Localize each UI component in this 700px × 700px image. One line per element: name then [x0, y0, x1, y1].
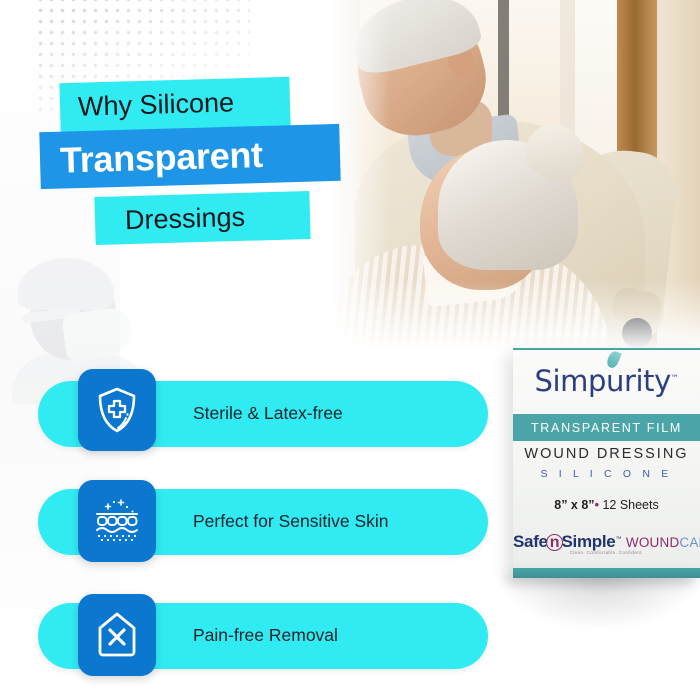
company-tagline: Clean. Comfortable. Confident. [513, 550, 700, 555]
product-band-text: TRANSPARENT FILM [531, 421, 682, 435]
brand-name: Simpurity [534, 364, 670, 398]
company-name-suffix: Simple [562, 532, 616, 551]
product-box: Simpurity™ TRANSPARENT FILM WOUND DRESSI… [513, 348, 700, 572]
headline-banner-line1: Why Silicone [59, 77, 290, 132]
headline-text-line1: Why Silicone [78, 87, 235, 122]
product-count: 12 Sheets [602, 498, 658, 512]
elderly-couple-photo [330, 0, 700, 350]
company-name-prefix: Safe [513, 532, 548, 551]
clinician-face-mask [61, 306, 135, 363]
company-trademark: ™ [615, 537, 621, 543]
shield-cross-icon [78, 369, 156, 451]
photo-bottom-fade [330, 280, 700, 350]
product-material: S I L I C O N E [513, 468, 700, 480]
headline-text-line3: Dressings [125, 201, 246, 235]
product-box-shadow [500, 575, 700, 630]
headline-banner-line3: Dressings [94, 191, 310, 245]
feature-label-sterile: Sterile & Latex-free [193, 403, 343, 425]
company-logo: SafenSimple™ WOUNDCARE [513, 532, 700, 552]
product-size: 8” x 8” [554, 498, 594, 512]
sensitive-skin-icon [78, 480, 156, 562]
size-separator: • [595, 498, 599, 512]
product-size-line: 8” x 8”• 12 Sheets [513, 498, 700, 512]
brand-name-wrap: Simpurity™ [534, 364, 678, 398]
infographic-canvas: Why Silicone Transparent Dressings Steri… [0, 0, 700, 700]
brand-logo: Simpurity™ [513, 364, 700, 398]
brand-trademark: ™ [671, 373, 679, 382]
division-wound: WOUND [626, 535, 680, 550]
window-mullion [498, 0, 509, 130]
feature-label-pain-free: Pain-free Removal [193, 625, 338, 647]
clinician-cap [18, 258, 114, 310]
product-band: TRANSPARENT FILM [513, 414, 700, 441]
headline-banner-line2: Transparent [39, 124, 340, 189]
feature-label-sensitive-skin: Perfect for Sensitive Skin [193, 511, 389, 533]
division-care: CARE [679, 535, 700, 550]
headline-text-line2: Transparent [59, 133, 263, 181]
no-pain-pentagon-x-icon [78, 594, 156, 676]
product-type: WOUND DRESSING [513, 446, 700, 462]
product-box-bottom-edge [513, 568, 700, 578]
